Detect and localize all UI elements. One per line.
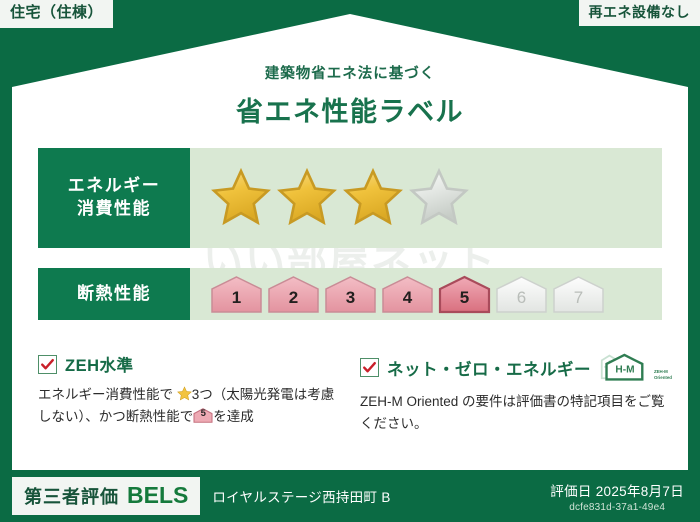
insulation-performance-row: 断熱性能 1234567 (38, 268, 662, 320)
insulation-grade-badge: 3 (324, 275, 377, 314)
inline-star-icon (177, 386, 192, 401)
star-filled-icon (342, 167, 404, 229)
insulation-grade-value: 3 (346, 288, 355, 314)
zeh-standard-note: ZEH水準 エネルギー消費性能で 3つ（太陽光発電は考慮しない）、かつ断熱性能で… (38, 352, 338, 428)
nze-note-title: ネット・ゼロ・エネルギー (387, 356, 591, 380)
insulation-grade-badge: 4 (381, 275, 434, 314)
renewable-equipment-tag: 再エネ設備なし (579, 0, 700, 26)
zeh-body-part1: エネルギー消費性能で (38, 387, 173, 402)
energy-performance-label: エネルギー 消費性能 (38, 148, 190, 248)
bels-badge: 第三者評価 BELS (12, 477, 200, 515)
page-title: 省エネ性能ラベル (0, 90, 700, 129)
inline-grade-badge: 5 (193, 408, 213, 423)
insulation-grade-value: 4 (403, 288, 412, 314)
nze-note-body: ZEH-M Oriented の要件は評価書の特記項目をご覧ください。 (360, 391, 672, 435)
insulation-grade-value: 7 (574, 288, 583, 314)
star-filled-icon (276, 167, 338, 229)
energy-performance-row: エネルギー 消費性能 (38, 148, 662, 248)
insulation-grade-badge: 6 (495, 275, 548, 314)
zeh-note-title: ZEH水準 (65, 352, 134, 376)
svg-text:H-M: H-M (615, 364, 634, 375)
net-zero-energy-note: ネット・ゼロ・エネルギー H-M ZEH-M Oriented ZEH-M Or… (360, 352, 672, 435)
inline-badge-value: 5 (193, 408, 213, 423)
property-name: ロイヤルステージ西持田町 B (212, 486, 390, 506)
check-icon (38, 355, 57, 374)
check-icon (360, 358, 379, 377)
insulation-grade-value: 6 (517, 288, 526, 314)
star-rating (190, 148, 662, 248)
energy-label-line2: 消費性能 (77, 198, 151, 221)
evaluation-date: 評価日 2025年8月7日 (550, 480, 684, 500)
insulation-grade-value: 1 (232, 288, 241, 314)
insulation-grade-scale: 1234567 (190, 268, 662, 320)
star-filled-icon (210, 167, 272, 229)
label-heading: 建築物省エネ法に基づく 省エネ性能ラベル (0, 62, 700, 129)
star-empty-icon (408, 167, 470, 229)
zeh-note-body: エネルギー消費性能で 3つ（太陽光発電は考慮しない）、かつ断熱性能で 5 を達成 (38, 384, 338, 428)
zeh-logo-caption-line1: ZEH-M (654, 369, 668, 374)
zeh-note-header: ZEH水準 (38, 352, 338, 376)
label-frame: 住宅（住棟） 再エネ設備なし 建築物省エネ法に基づく 省エネ性能ラベル いい部屋… (0, 0, 700, 522)
evaluation-info: 評価日 2025年8月7日 dcfe831d-37a1-49e4 (550, 480, 684, 513)
building-type-tag: 住宅（住棟） (0, 0, 113, 28)
energy-label-line1: エネルギー (68, 175, 161, 198)
insulation-grade-badge: 1 (210, 275, 263, 314)
insulation-grade-badge: 5 (438, 275, 491, 314)
insulation-grade-value: 2 (289, 288, 298, 314)
insulation-grade-badge: 7 (552, 275, 605, 314)
heading-subtitle: 建築物省エネ法に基づく (0, 62, 700, 83)
zeh-m-oriented-logo-icon: H-M ZEH-M Oriented (599, 352, 651, 383)
insulation-grade-badge: 2 (267, 275, 320, 314)
insulation-grade-value: 5 (460, 288, 469, 314)
bels-mark: BELS (127, 482, 188, 509)
evaluation-id: dcfe831d-37a1-49e4 (550, 502, 684, 513)
insulation-performance-label: 断熱性能 (38, 268, 190, 320)
zeh-logo-caption-line2: Oriented (654, 375, 672, 380)
zeh-body-part3: を達成 (213, 409, 254, 424)
label-footer: 第三者評価 BELS ロイヤルステージ西持田町 B 評価日 2025年8月7日 … (0, 470, 700, 522)
nze-note-header: ネット・ゼロ・エネルギー H-M ZEH-M Oriented (360, 352, 672, 383)
zeh-logo-caption: ZEH-M Oriented (654, 369, 672, 380)
bels-label: 第三者評価 (24, 483, 119, 509)
